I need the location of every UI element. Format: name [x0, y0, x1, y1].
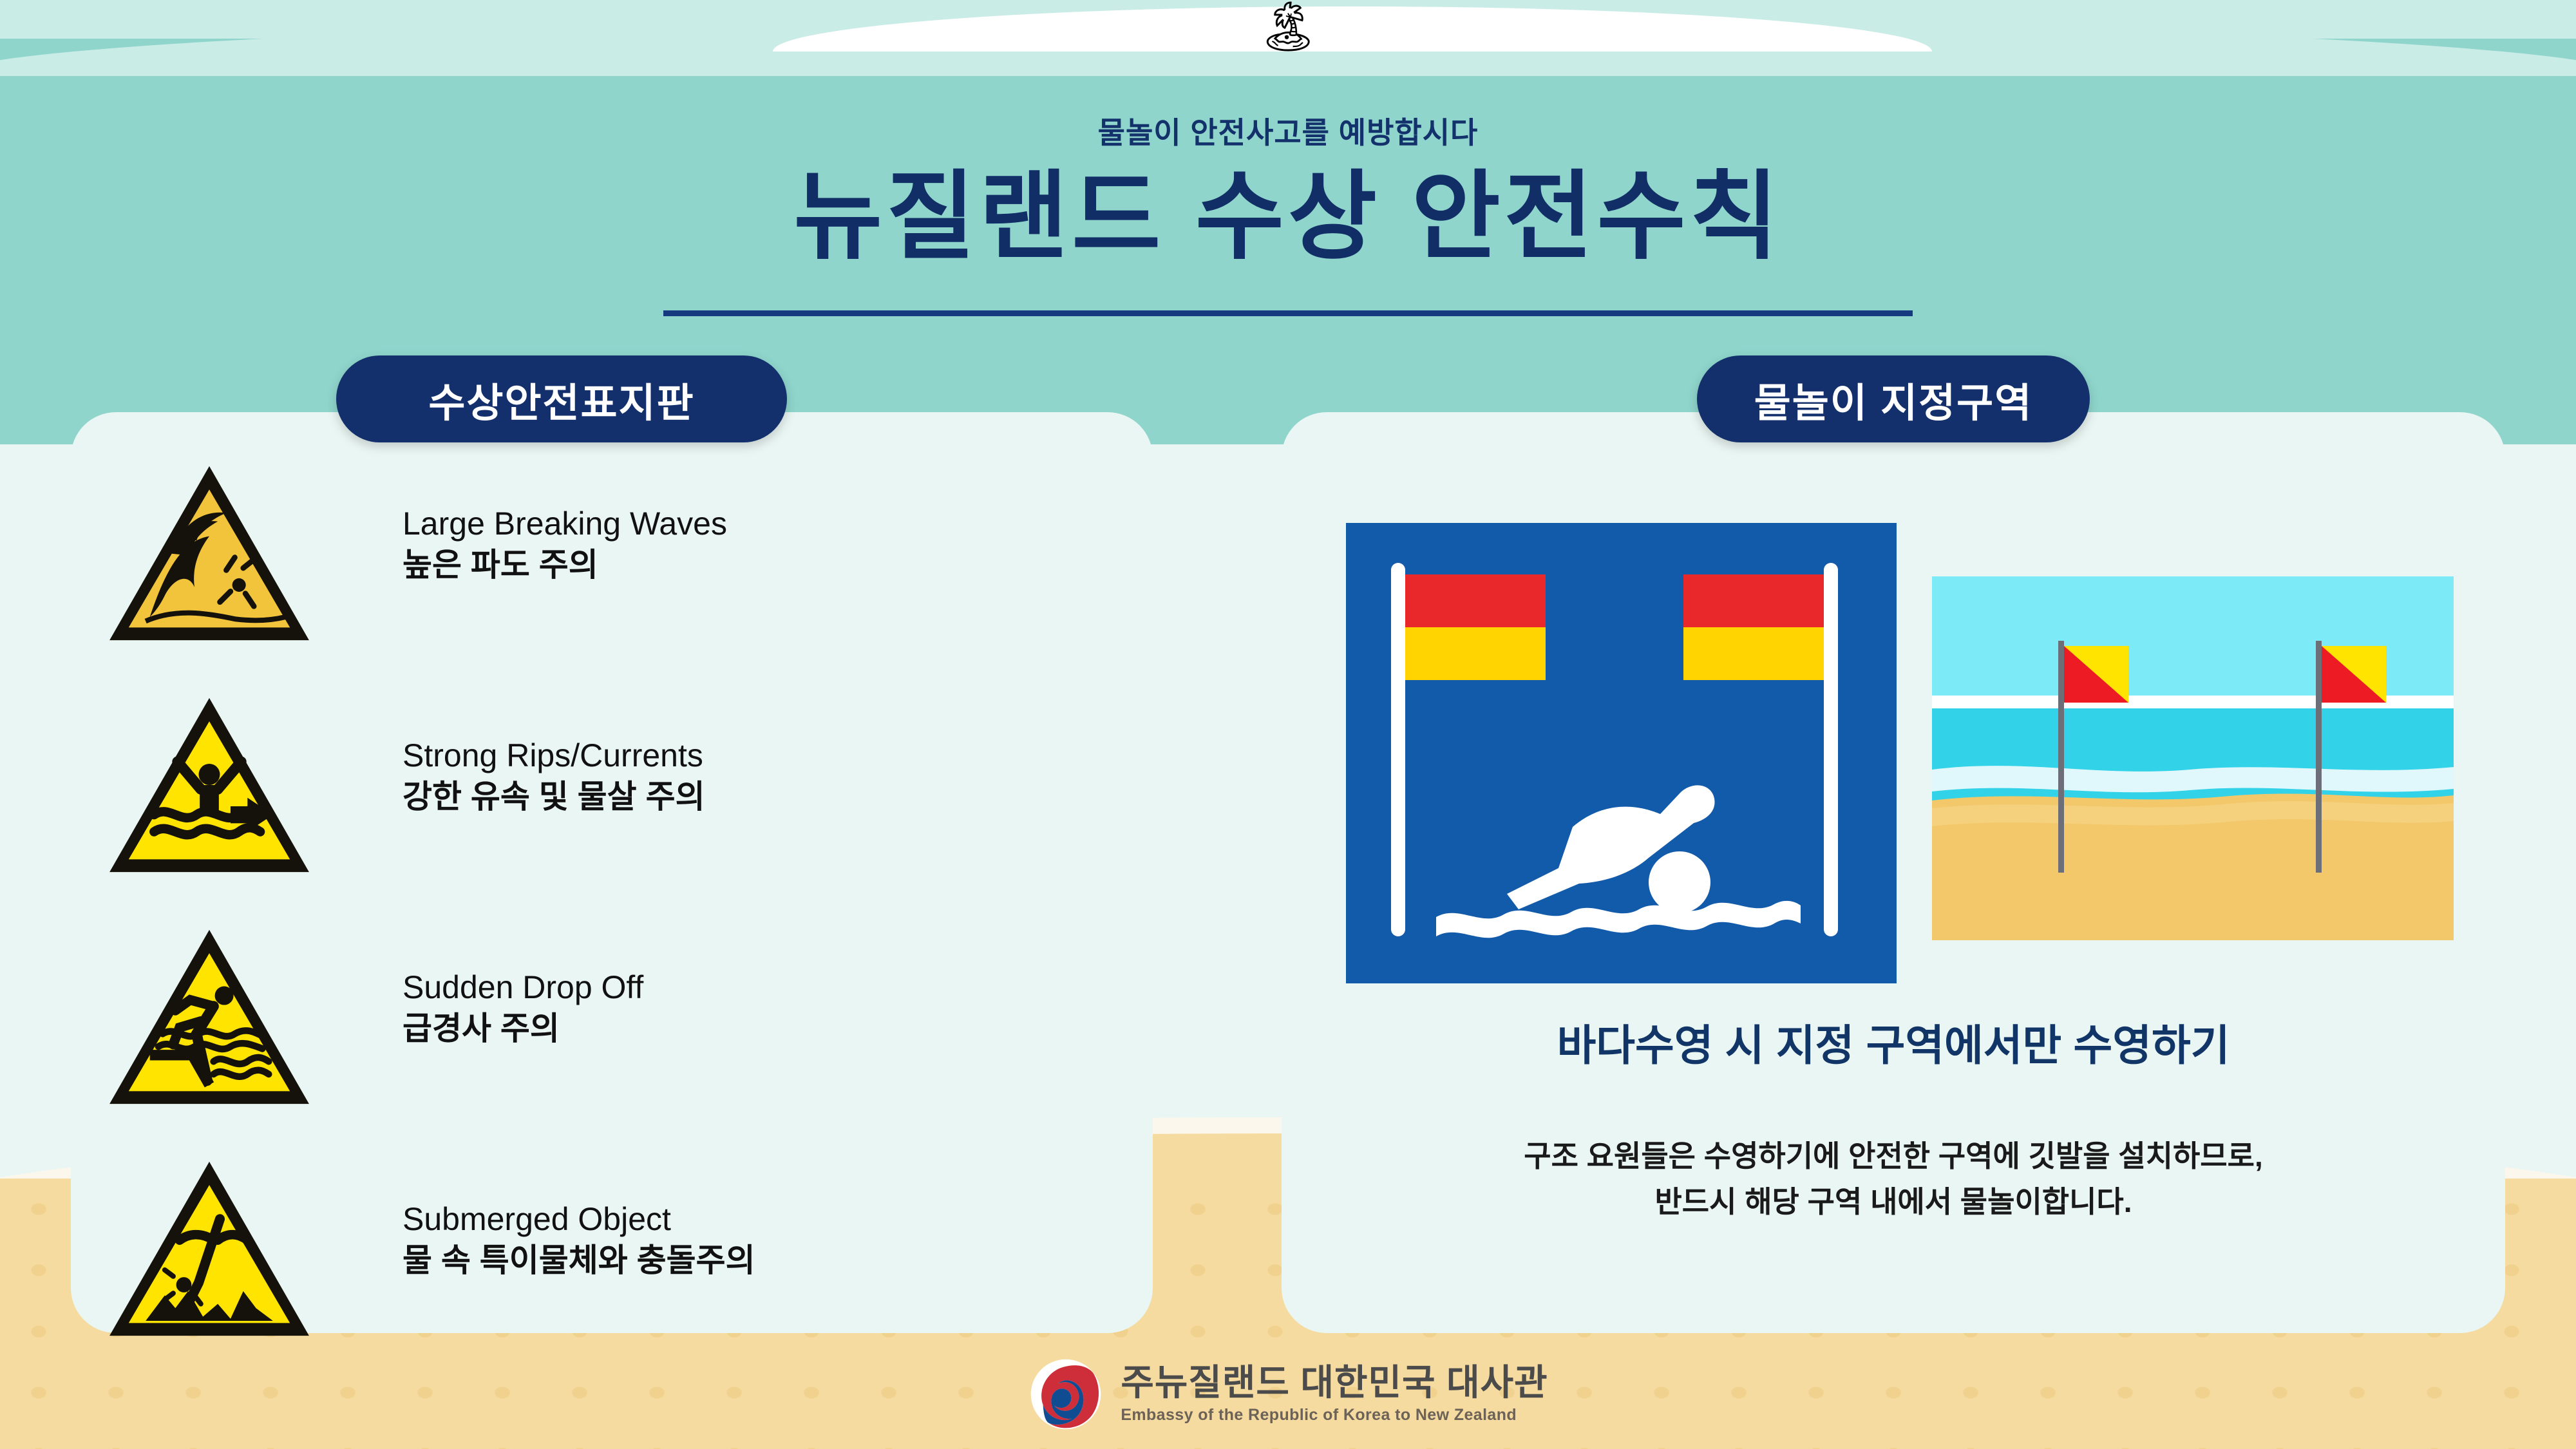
body-line-1: 구조 요원들은 수영하기에 안전한 구역에 깃발을 설치하므로,: [1282, 1133, 2505, 1179]
badge-designated-swim-area: 물놀이 지정구역: [1697, 355, 2090, 442]
poster-title: 뉴질랜드 수상 안전수칙: [0, 164, 2576, 269]
poster-subtitle: 물놀이 안전사고를 예방합시다: [0, 109, 2576, 152]
designated-area-headline: 바다수영 시 지정 구역에서만 수영하기: [1282, 1011, 2505, 1073]
taegeuk-logo: [1028, 1356, 1104, 1432]
embassy-name-ko: 주뉴질랜드 대한민국 대사관: [1121, 1364, 1548, 1402]
hazard-label-en: Submerged Object: [402, 1199, 755, 1240]
list-item: Submerged Object 물 속 특이물체와 충돌주의: [90, 1140, 1133, 1372]
designated-area-body: 구조 요원들은 수영하기에 안전한 구역에 깃발을 설치하므로, 반드시 해당 …: [1282, 1133, 2505, 1226]
hazard-list: Large Breaking Waves 높은 파도 주의: [90, 444, 1133, 1372]
hazard-text: Strong Rips/Currents 강한 유속 및 물살 주의: [402, 735, 705, 818]
hazard-label-en: Sudden Drop Off: [402, 967, 643, 1008]
hazard-label-ko: 급경사 주의: [402, 1008, 643, 1050]
hazard-label-ko: 물 속 특이물체와 충돌주의: [402, 1240, 755, 1282]
title-underline: [663, 310, 1913, 316]
hazard-text: Sudden Drop Off 급경사 주의: [402, 967, 643, 1050]
list-item: Strong Rips/Currents 강한 유속 및 물살 주의: [90, 676, 1133, 908]
hazard-text: Submerged Object 물 속 특이물체와 충돌주의: [402, 1199, 755, 1282]
beach-flags-photo: [1932, 576, 2454, 940]
embassy-name-en: Embassy of the Republic of Korea to New …: [1121, 1406, 1548, 1425]
badge-water-safety-signs: 수상안전표지판: [336, 355, 787, 442]
hazard-label-ko: 강한 유속 및 물살 주의: [402, 776, 705, 818]
list-item: Sudden Drop Off 급경사 주의: [90, 908, 1133, 1140]
body-line-2: 반드시 해당 구역 내에서 물놀이합니다.: [1282, 1179, 2505, 1225]
hazard-label-en: Large Breaking Waves: [402, 504, 727, 544]
poster-canvas: 🏝 물놀이 안전사고를 예방합시다 뉴질랜드 수상 안전수칙 수상안전표지판 물…: [0, 0, 2576, 1449]
warning-sudden-drop-icon: [103, 923, 316, 1110]
hazard-text: Large Breaking Waves 높은 파도 주의: [402, 504, 727, 586]
warning-breaking-wave-icon: [103, 460, 316, 647]
swim-between-flags-sign: [1346, 523, 1897, 983]
list-item: Large Breaking Waves 높은 파도 주의: [90, 444, 1133, 676]
warning-submerged-object-icon: [103, 1155, 316, 1342]
footer-text: 주뉴질랜드 대한민국 대사관 Embassy of the Republic o…: [1121, 1364, 1548, 1425]
palm-island-icon: 🏝: [0, 3, 2576, 52]
hazard-label-ko: 높은 파도 주의: [402, 544, 727, 586]
footer-logo-block: 주뉴질랜드 대한민국 대사관 Embassy of the Republic o…: [0, 1356, 2576, 1432]
warning-rip-current-icon: [103, 692, 316, 878]
hazard-label-en: Strong Rips/Currents: [402, 735, 705, 776]
